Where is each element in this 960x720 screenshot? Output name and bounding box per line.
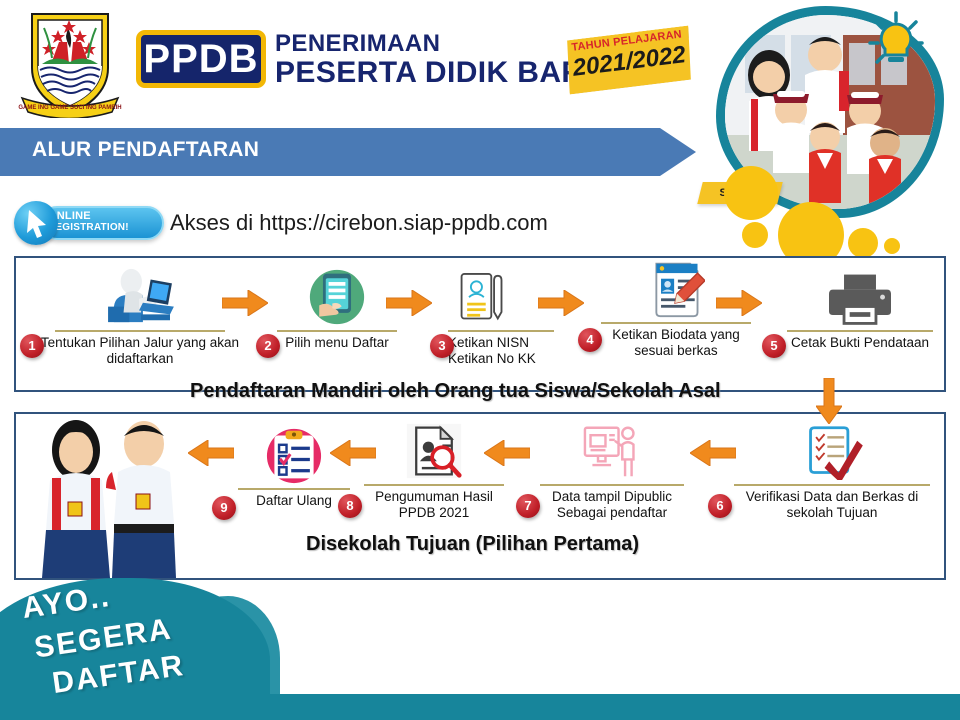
flow-bottom-caption: Disekolah Tujuan (Pilihan Pertama) <box>306 533 639 556</box>
flow-step-2-number: 2 <box>256 334 280 358</box>
flow-arrow-1-2 <box>222 290 268 316</box>
flow-arrow-3-4 <box>538 290 584 316</box>
flow-step-4-rule <box>601 322 751 324</box>
cursor-icon <box>14 201 58 245</box>
flow-step-1-label: Tentukan Pilihan Jalur yang akan didafta… <box>40 335 240 368</box>
flow-connector-down-arrow <box>816 378 842 424</box>
flow-step-4-number: 4 <box>578 328 602 352</box>
tablet-hand-icon <box>272 264 402 326</box>
ppdb-logo-text: PPDB <box>143 39 258 79</box>
flow-step-9-rule <box>238 488 350 490</box>
flow-step-5-number: 5 <box>762 334 786 358</box>
infographic-canvas: GAME ING GAME SUCI ING PAMRIH PPDB PENER… <box>0 0 960 720</box>
crest-motto: GAME ING GAME SUCI ING PAMRIH <box>18 105 121 111</box>
flow-step-1-number: 1 <box>20 334 44 358</box>
decor-circle-1 <box>724 166 778 220</box>
ppdb-logo: PPDB <box>136 30 266 88</box>
printer-icon <box>782 264 938 326</box>
flow-step-4-label: Ketikan Biodata yang sesuai berkas <box>596 327 756 360</box>
flow-step-3-rule <box>448 330 554 332</box>
two-students-illustration <box>16 414 206 578</box>
flow-step-7: Data tampil Dipublic Sebagai pendaftar <box>536 418 688 522</box>
flow-step-8-rule <box>364 484 504 486</box>
teal-bottom-bar <box>0 694 960 720</box>
flow-arrow-9-left <box>188 440 234 466</box>
flow-step-3-label: Ketikan NISN Ketikan No KK <box>448 335 564 368</box>
decor-circle-4 <box>848 228 878 258</box>
flow-step-2: Pilih menu Daftar <box>272 264 402 351</box>
flow-step-5-rule <box>787 330 933 332</box>
flow-step-6-label: Verifikasi Data dan Berkas di sekolah Tu… <box>730 489 934 522</box>
flow-step-7-rule <box>540 484 684 486</box>
flow-step-7-label: Data tampil Dipublic Sebagai pendaftar <box>536 489 688 522</box>
flow-step-8: Pengumuman Hasil PPDB 2021 <box>360 418 508 522</box>
school-year-badge: TAHUN PELAJARAN 2021/2022 <box>563 26 695 95</box>
decor-circle-2 <box>742 222 768 248</box>
presentation-monitor-icon <box>536 418 688 480</box>
person-laptop-icon <box>40 264 240 326</box>
flow-step-6-number: 6 <box>708 494 732 518</box>
flow-arrow-2-3 <box>386 290 432 316</box>
flow-step-5-label: Cetak Bukti Pendataan <box>782 335 938 351</box>
flow-step-6-rule <box>734 484 930 486</box>
two-students-photo <box>16 414 206 578</box>
section-banner-arrow-tip <box>660 128 696 176</box>
flow-top-caption: Pendaftaran Mandiri oleh Orang tua Siswa… <box>190 380 721 403</box>
flow-arrow-4-5 <box>716 290 762 316</box>
online-badge-line2: REGISTRATION! <box>48 222 129 233</box>
flow-step-2-label: Pilih menu Daftar <box>272 335 402 351</box>
flow-arrow-7-left <box>484 440 530 466</box>
flow-step-6: Verifikasi Data dan Berkas di sekolah Tu… <box>730 418 934 522</box>
flow-step-3-number: 3 <box>430 334 454 358</box>
flow-step-8-label: Pengumuman Hasil PPDB 2021 <box>360 489 508 522</box>
header-title-line1: PENERIMAAN <box>275 30 440 58</box>
header-title-line2: PESERTA DIDIK BARU <box>275 56 606 90</box>
flow-step-7-number: 7 <box>516 494 540 518</box>
flow-step-9-label: Daftar Ulang <box>234 493 354 509</box>
header: GAME ING GAME SUCI ING PAMRIH PPDB PENER… <box>0 0 960 126</box>
cursor-circle <box>14 201 58 245</box>
access-url-text: Akses di https://cirebon.siap-ppdb.com <box>170 210 548 236</box>
decor-circle-5 <box>884 238 900 254</box>
cirebon-crest-icon: GAME ING GAME SUCI ING PAMRIH <box>18 6 122 118</box>
flow-step-1: Tentukan Pilihan Jalur yang akan didafta… <box>40 264 240 368</box>
checklist-check-icon <box>730 418 934 480</box>
flow-step-9-number: 9 <box>212 496 236 520</box>
flow-step-5: Cetak Bukti Pendataan <box>782 264 938 351</box>
flow-step-8-number: 8 <box>338 494 362 518</box>
section-banner-label: ALUR PENDAFTARAN <box>32 138 259 162</box>
flow-step-2-rule <box>277 330 397 332</box>
flow-step-1-rule <box>55 330 225 332</box>
lightbulb-icon <box>868 10 924 72</box>
